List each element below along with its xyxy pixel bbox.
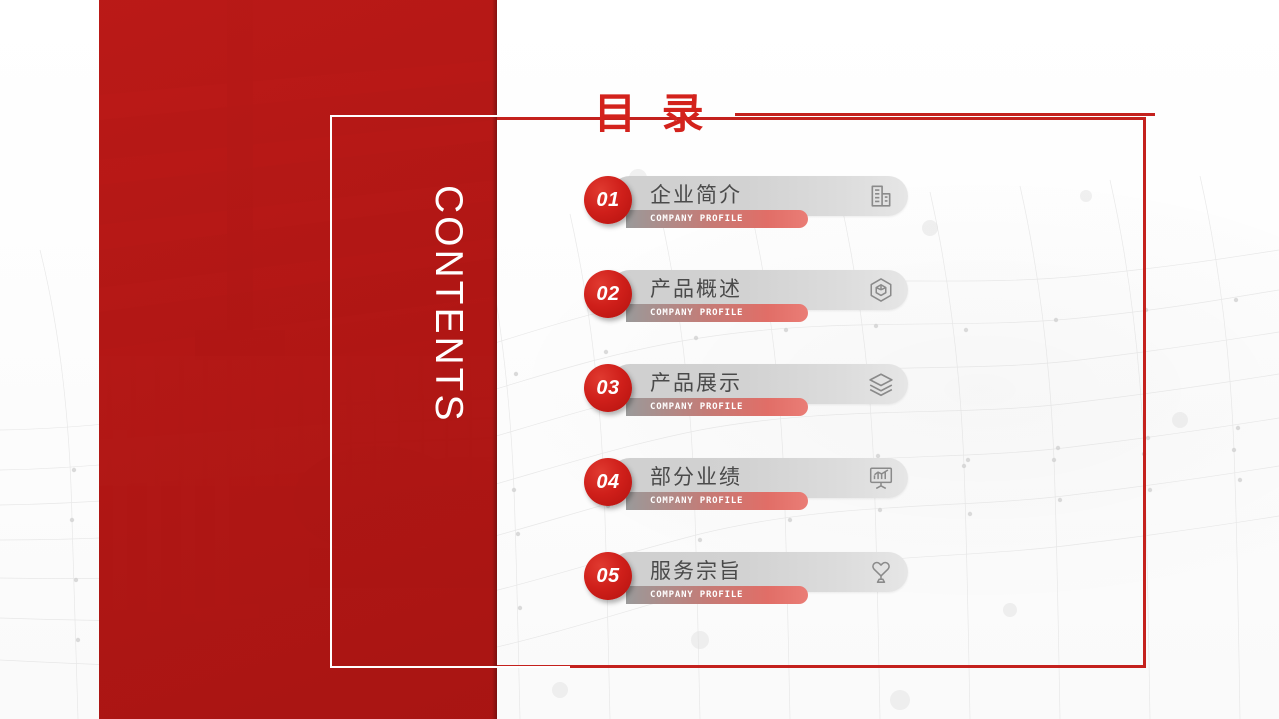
toc-title: 部分业绩 bbox=[650, 462, 742, 494]
toc-subtitle: COMPANY PROFILE bbox=[650, 588, 743, 602]
title-divider-line bbox=[735, 113, 1155, 116]
toc-number-badge: 05 bbox=[584, 552, 632, 600]
presentation-chart-icon bbox=[868, 465, 894, 491]
toc-number: 03 bbox=[596, 377, 619, 400]
toc-number: 04 bbox=[596, 471, 619, 494]
building-icon bbox=[868, 183, 894, 209]
list-item[interactable]: COMPANY PROFILE 01 企业简介 bbox=[584, 176, 924, 270]
toc-subtitle: COMPANY PROFILE bbox=[650, 306, 743, 320]
list-item[interactable]: COMPANY PROFILE 02 产品概述 bbox=[584, 270, 924, 364]
toc-number-badge: 04 bbox=[584, 458, 632, 506]
toc-title: 企业简介 bbox=[650, 180, 742, 212]
list-item[interactable]: COMPANY PROFILE 05 服务宗旨 bbox=[584, 552, 924, 646]
layers-icon bbox=[868, 371, 894, 397]
toc-subtitle: COMPANY PROFILE bbox=[650, 400, 743, 414]
toc-number: 05 bbox=[596, 565, 619, 588]
toc-number-badge: 01 bbox=[584, 176, 632, 224]
contents-vertical-label: CONTENTS bbox=[413, 185, 483, 525]
toc-list: COMPANY PROFILE 01 企业简介 COMPANY PROFILE … bbox=[584, 176, 924, 646]
toc-title: 产品概述 bbox=[650, 274, 742, 306]
toc-subtitle: COMPANY PROFILE bbox=[650, 212, 743, 226]
toc-number-badge: 03 bbox=[584, 364, 632, 412]
toc-subtitle: COMPANY PROFILE bbox=[650, 494, 743, 508]
toc-number: 01 bbox=[596, 189, 619, 212]
toc-title: 产品展示 bbox=[650, 368, 742, 400]
heart-award-icon bbox=[868, 559, 894, 585]
list-item[interactable]: COMPANY PROFILE 03 产品展示 bbox=[584, 364, 924, 458]
slide-canvas: CONTENTS 目 录 COMPANY PROFILE 01 企业简介 bbox=[0, 0, 1279, 719]
hexagon-cube-icon bbox=[868, 277, 894, 303]
toc-number: 02 bbox=[596, 283, 619, 306]
page-title-group: 目 录 bbox=[594, 93, 1155, 135]
page-title: 目 录 bbox=[594, 93, 711, 135]
toc-title: 服务宗旨 bbox=[650, 556, 742, 588]
list-item[interactable]: COMPANY PROFILE 04 部分业绩 bbox=[584, 458, 924, 552]
toc-number-badge: 02 bbox=[584, 270, 632, 318]
